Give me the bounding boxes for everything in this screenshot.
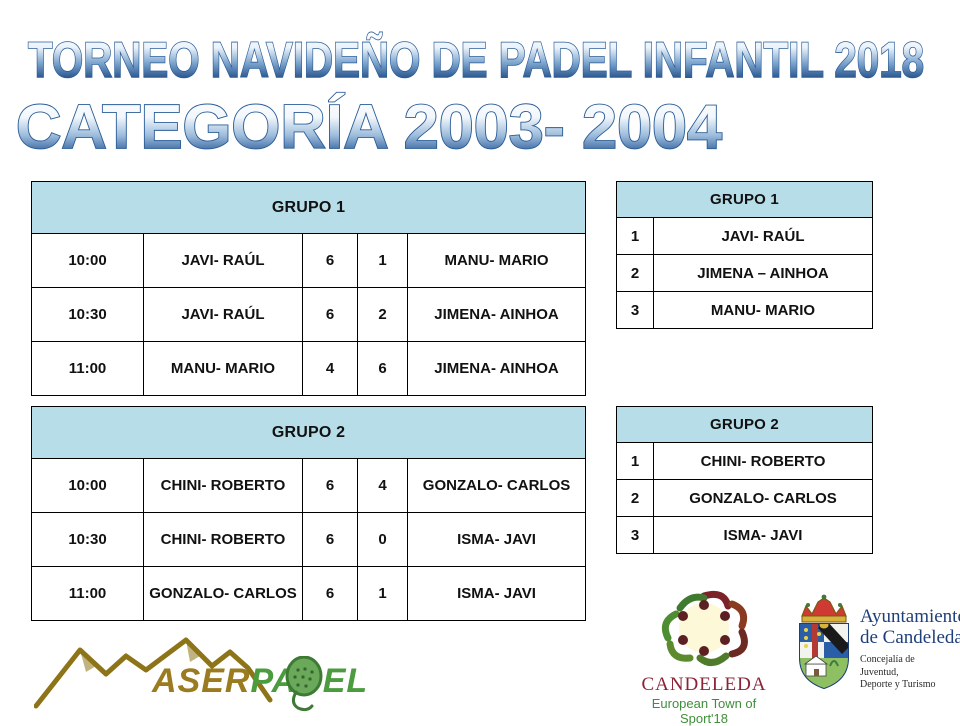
match-time: 10:00 xyxy=(32,234,144,288)
standings-table-grupo-2: GRUPO 2 1 CHINI- ROBERTO 2 GONZALO- CARL… xyxy=(616,406,873,554)
standing-position: 2 xyxy=(617,255,654,292)
match-team-a: JAVI- RAÚL xyxy=(144,234,303,288)
match-time: 11:00 xyxy=(32,567,144,621)
match-team-a: JAVI- RAÚL xyxy=(144,288,303,342)
standing-position: 1 xyxy=(617,443,654,480)
match-time: 10:00 xyxy=(32,459,144,513)
coat-of-arms-icon xyxy=(792,594,856,690)
match-score-a: 6 xyxy=(303,567,358,621)
standing-position: 2 xyxy=(617,480,654,517)
aserpadel-word-aser: ASER xyxy=(152,662,250,700)
standing-team: MANU- MARIO xyxy=(654,292,873,329)
match-time: 11:00 xyxy=(32,342,144,396)
ayuntamiento-title-line2: de Candeleda xyxy=(860,627,960,648)
group-header: GRUPO 1 xyxy=(32,182,586,234)
title-line-1-text: TORNEO NAVIDEÑO DE PADEL INFANTIL 2018 xyxy=(28,32,924,88)
table-header-row: GRUPO 2 xyxy=(617,407,873,443)
match-team-b: GONZALO- CARLOS xyxy=(408,459,586,513)
title-line-1-art: TORNEO NAVIDEÑO DE PADEL INFANTIL 2018 xyxy=(28,32,928,90)
standings-table-grupo-1: GRUPO 1 1 JAVI- RAÚL 2 JIMENA – AINHOA 3… xyxy=(616,181,873,329)
table-row: 2 GONZALO- CARLOS xyxy=(617,480,873,517)
padel-racket-icon xyxy=(274,656,334,714)
title-line-2: CATEGORÍA 2003- 2004 xyxy=(16,90,736,162)
standing-position: 3 xyxy=(617,292,654,329)
standing-team: JAVI- RAÚL xyxy=(654,218,873,255)
table-row: 10:30 CHINI- ROBERTO 6 0 ISMA- JAVI xyxy=(32,513,586,567)
match-table-grupo-2: GRUPO 2 10:00 CHINI- ROBERTO 6 4 GONZALO… xyxy=(31,406,586,621)
match-score-b: 1 xyxy=(358,567,408,621)
match-score-a: 6 xyxy=(303,288,358,342)
match-score-a: 4 xyxy=(303,342,358,396)
ayuntamiento-subtitle-line1: Concejalía de Juventud, xyxy=(860,654,955,679)
table-row: 10:00 CHINI- ROBERTO 6 4 GONZALO- CARLOS xyxy=(32,459,586,513)
table-row: 1 CHINI- ROBERTO xyxy=(617,443,873,480)
candeleda-name: CANDELEDA xyxy=(628,674,780,696)
match-score-a: 6 xyxy=(303,513,358,567)
title-line-2-art: CATEGORÍA 2003- 2004 xyxy=(16,90,736,162)
table-row: 10:00 JAVI- RAÚL 6 1 MANU- MARIO xyxy=(32,234,586,288)
match-time: 10:30 xyxy=(32,288,144,342)
match-score-b: 4 xyxy=(358,459,408,513)
standing-position: 1 xyxy=(617,218,654,255)
match-score-a: 6 xyxy=(303,459,358,513)
standing-team: JIMENA – AINHOA xyxy=(654,255,873,292)
candeleda-swirl-icon xyxy=(628,588,780,672)
standing-team: GONZALO- CARLOS xyxy=(654,480,873,517)
table-row: 11:00 MANU- MARIO 4 6 JIMENA- AINHOA xyxy=(32,342,586,396)
match-score-b: 2 xyxy=(358,288,408,342)
aserpadel-wordmark: ASERPADEL xyxy=(152,662,368,701)
match-team-b: ISMA- JAVI xyxy=(408,513,586,567)
match-score-b: 0 xyxy=(358,513,408,567)
aserpadel-logo: ASERPADEL xyxy=(34,622,324,714)
candeleda-tagline: European Town of Sport'18 xyxy=(628,696,780,726)
table-row: 2 JIMENA – AINHOA xyxy=(617,255,873,292)
candeleda-logo: CANDELEDA European Town of Sport'18 xyxy=(628,588,780,716)
match-time: 10:30 xyxy=(32,513,144,567)
group-header: GRUPO 2 xyxy=(32,407,586,459)
match-team-a: MANU- MARIO xyxy=(144,342,303,396)
match-score-a: 6 xyxy=(303,234,358,288)
match-team-b: MANU- MARIO xyxy=(408,234,586,288)
ayuntamiento-logo: Ayuntamiento de Candeleda Concejalía de … xyxy=(790,590,955,695)
standing-team: ISMA- JAVI xyxy=(654,517,873,554)
match-team-b: JIMENA- AINHOA xyxy=(408,342,586,396)
group-header: GRUPO 2 xyxy=(617,407,873,443)
table-header-row: GRUPO 2 xyxy=(32,407,586,459)
table-row: 10:30 JAVI- RAÚL 6 2 JIMENA- AINHOA xyxy=(32,288,586,342)
table-header-row: GRUPO 1 xyxy=(617,182,873,218)
match-team-b: ISMA- JAVI xyxy=(408,567,586,621)
standing-team: CHINI- ROBERTO xyxy=(654,443,873,480)
table-header-row: GRUPO 1 xyxy=(32,182,586,234)
match-table-grupo-1: GRUPO 1 10:00 JAVI- RAÚL 6 1 MANU- MARIO… xyxy=(31,181,586,396)
ayuntamiento-title-line1: Ayuntamiento xyxy=(860,606,960,627)
table-row: 11:00 GONZALO- CARLOS 6 1 ISMA- JAVI xyxy=(32,567,586,621)
table-row: 3 ISMA- JAVI xyxy=(617,517,873,554)
match-team-b: JIMENA- AINHOA xyxy=(408,288,586,342)
match-team-a: GONZALO- CARLOS xyxy=(144,567,303,621)
ayuntamiento-subtitle: Concejalía de Juventud, Deporte y Turism… xyxy=(860,654,955,692)
table-row: 3 MANU- MARIO xyxy=(617,292,873,329)
ayuntamiento-title: Ayuntamiento de Candeleda xyxy=(860,606,960,649)
standing-position: 3 xyxy=(617,517,654,554)
match-team-a: CHINI- ROBERTO xyxy=(144,459,303,513)
title-line-2-text: CATEGORÍA 2003- 2004 xyxy=(16,93,723,162)
match-score-b: 1 xyxy=(358,234,408,288)
group-header: GRUPO 1 xyxy=(617,182,873,218)
ayuntamiento-subtitle-line2: Deporte y Turismo xyxy=(860,679,955,692)
match-score-b: 6 xyxy=(358,342,408,396)
table-row: 1 JAVI- RAÚL xyxy=(617,218,873,255)
title-line-1: TORNEO NAVIDEÑO DE PADEL INFANTIL 2018 xyxy=(28,32,928,90)
poster-canvas: TORNEO NAVIDEÑO DE PADEL INFANTIL 2018 C… xyxy=(0,0,960,720)
match-team-a: CHINI- ROBERTO xyxy=(144,513,303,567)
